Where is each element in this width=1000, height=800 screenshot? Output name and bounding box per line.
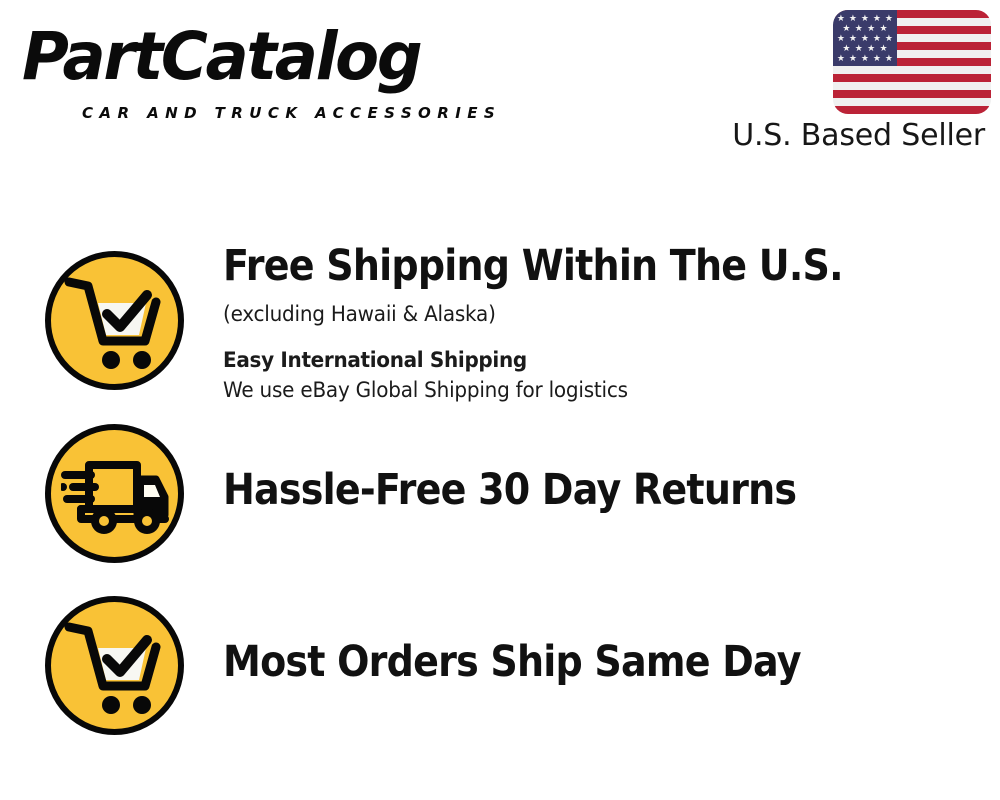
feature-subline-bold: Easy International Shipping	[223, 346, 930, 376]
delivery-truck-icon	[45, 424, 184, 563]
shopping-cart-check-icon	[45, 596, 184, 735]
feature-text-block: Free Shipping Within The U.S. (excluding…	[223, 241, 983, 406]
feature-row: Free Shipping Within The U.S. (excluding…	[0, 243, 1000, 413]
feature-text-block: Most Orders Ship Same Day	[223, 637, 983, 687]
feature-text-block: Hassle-Free 30 Day Returns	[223, 465, 983, 515]
shopping-cart-check-icon	[45, 251, 184, 390]
feature-subline: (excluding Hawaii & Alaska)	[223, 300, 930, 330]
promo-banner: PartCatalog CAR AND TRUCK ACCESSORIES	[0, 0, 1000, 800]
feature-list: Free Shipping Within The U.S. (excluding…	[0, 0, 1000, 800]
feature-row: Hassle-Free 30 Day Returns	[0, 418, 1000, 578]
feature-subline: We use eBay Global Shipping for logistic…	[223, 376, 930, 406]
feature-heading: Most Orders Ship Same Day	[223, 637, 896, 687]
feature-heading: Free Shipping Within The U.S.	[223, 241, 896, 291]
feature-heading: Hassle-Free 30 Day Returns	[223, 465, 896, 515]
feature-row: Most Orders Ship Same Day	[0, 590, 1000, 750]
